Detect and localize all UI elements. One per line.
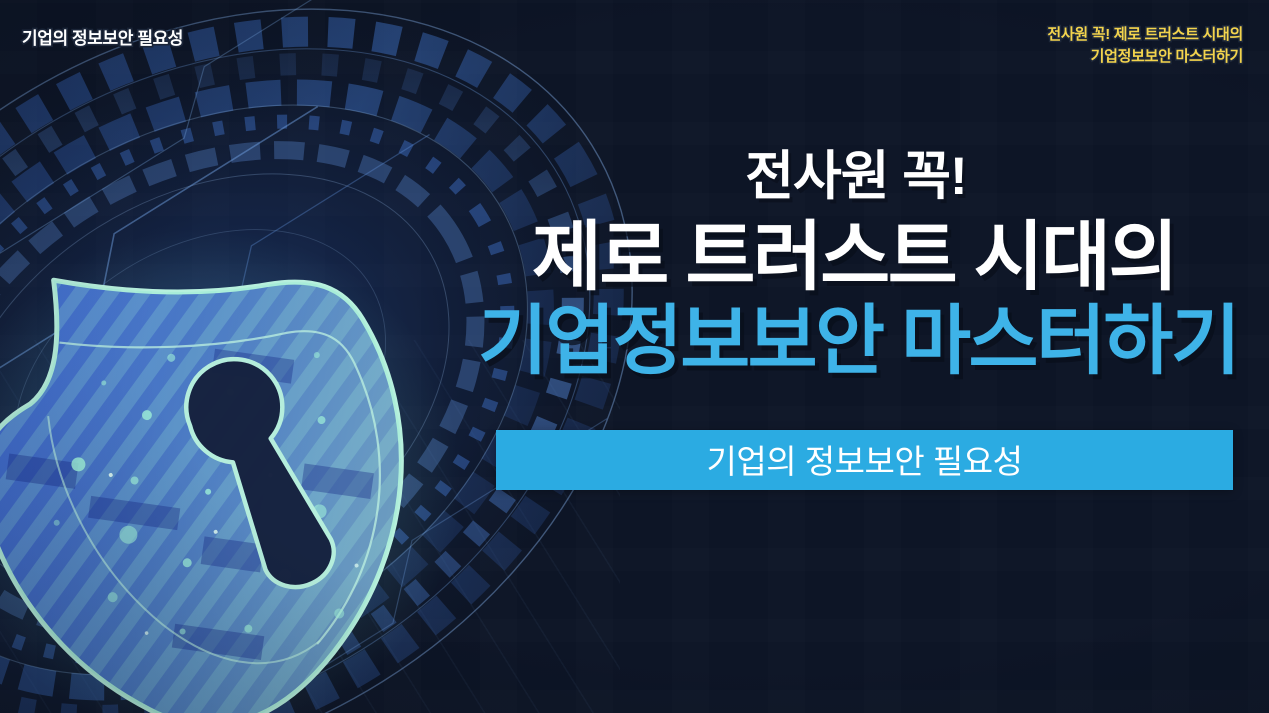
header-right-line2: 기업정보보안 마스터하기	[1047, 46, 1243, 68]
header-left-label: 기업의 정보보안 필요성	[22, 24, 183, 49]
title-block: 전사원 꼭! 제로 트러스트 시대의 기업정보보안 마스터하기	[470, 150, 1250, 380]
background-diagonal-lines	[0, 340, 620, 713]
title-line-2: 제로 트러스트 시대의	[532, 219, 1250, 297]
subtitle-banner-text: 기업의 정보보안 필요성	[707, 435, 1023, 485]
subtitle-banner: 기업의 정보보안 필요성	[496, 430, 1233, 490]
title-line-1: 전사원 꼭!	[470, 150, 1250, 203]
slide-canvas: 기업의 정보보안 필요성 전사원 꼭! 제로 트러스트 시대의 기업정보보안 마…	[0, 0, 1269, 713]
header-right-label: 전사원 꼭! 제로 트러스트 시대의 기업정보보안 마스터하기	[1047, 24, 1243, 68]
header-right-line1: 전사원 꼭! 제로 트러스트 시대의	[1047, 24, 1243, 46]
title-line-3: 기업정보보안 마스터하기	[478, 303, 1250, 381]
